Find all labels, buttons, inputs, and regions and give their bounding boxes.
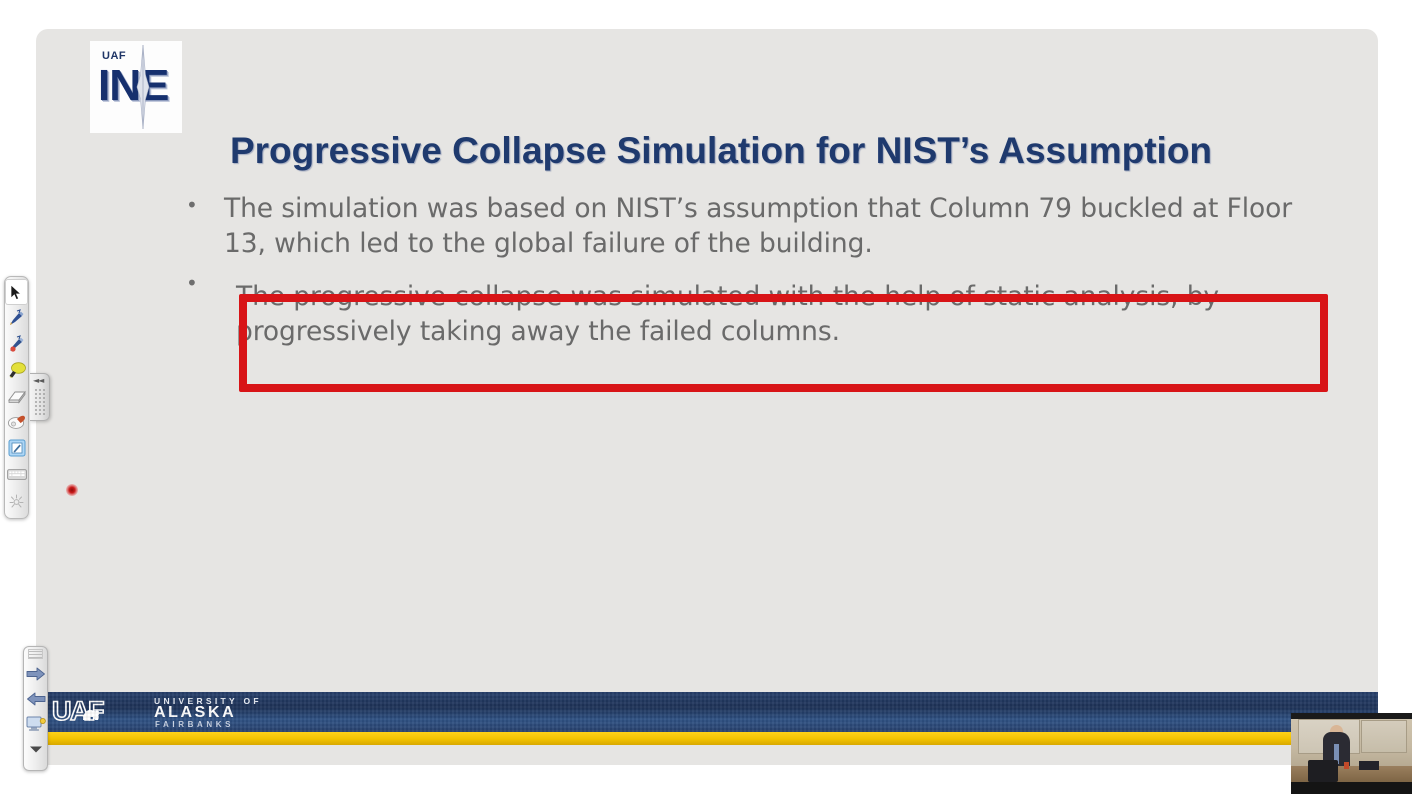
nav-more-menu[interactable] bbox=[24, 736, 47, 761]
tool-effects[interactable] bbox=[5, 487, 28, 513]
chevron-down-icon bbox=[28, 744, 44, 754]
nav-prev-slide[interactable] bbox=[24, 686, 47, 711]
laser-pointer-dot bbox=[66, 484, 78, 496]
navigation-toolbar[interactable] bbox=[23, 646, 48, 771]
slide-stage[interactable]: UAF INE Progressive Collapse Simulation … bbox=[36, 29, 1378, 765]
tool-highlighter[interactable] bbox=[5, 357, 28, 383]
tool-ink[interactable] bbox=[5, 409, 28, 435]
tool-eraser[interactable] bbox=[5, 383, 28, 409]
collapse-arrows-icon: ◄◄ bbox=[33, 376, 43, 385]
tool-text-note[interactable] bbox=[5, 435, 28, 461]
toolbar-collapse-handle[interactable]: ◄◄ bbox=[30, 373, 50, 421]
bullet-item-2: • The progressive collapse was simulated… bbox=[186, 269, 1326, 361]
bullet-text-2: The progressive collapse was simulated w… bbox=[216, 269, 1326, 361]
nav-screen-share[interactable] bbox=[24, 711, 47, 736]
presenter-webcam[interactable] bbox=[1291, 713, 1412, 794]
polar-bear-icon bbox=[80, 705, 102, 723]
bullet-item-1: • The simulation was based on NIST’s ass… bbox=[186, 191, 1326, 261]
bullet-text-1: The simulation was based on NIST’s assum… bbox=[224, 191, 1326, 261]
pen-blue-icon bbox=[7, 309, 26, 328]
handle-grip-icon bbox=[34, 388, 46, 416]
uaf-ine-logo: UAF INE bbox=[90, 41, 182, 133]
webcam-cup bbox=[1344, 762, 1349, 769]
arrow-left-icon bbox=[26, 691, 46, 707]
screen-share-icon bbox=[26, 715, 46, 732]
logo-ine-text: INE bbox=[98, 63, 168, 109]
keyboard-icon bbox=[7, 469, 27, 480]
slide-title: Progressive Collapse Simulation for NIST… bbox=[96, 129, 1346, 173]
nav-drag-grip[interactable] bbox=[24, 647, 47, 661]
webcam-projection-screen-2 bbox=[1361, 720, 1407, 753]
text-note-icon bbox=[8, 439, 26, 457]
footer-accent-stripe bbox=[36, 732, 1378, 745]
seismic-wave-icon bbox=[136, 45, 150, 129]
nav-next-slide[interactable] bbox=[24, 661, 47, 686]
tool-pen-color[interactable] bbox=[5, 331, 28, 357]
webcam-lectern bbox=[1308, 760, 1338, 782]
bullet-marker-icon: • bbox=[186, 191, 224, 205]
bullet-list: • The simulation was based on NIST’s ass… bbox=[186, 191, 1326, 369]
eraser-icon bbox=[7, 388, 27, 405]
arrow-right-icon bbox=[26, 666, 46, 682]
cursor-arrow-icon bbox=[9, 284, 24, 301]
webcam-laptop bbox=[1359, 761, 1379, 770]
tool-keyboard[interactable] bbox=[5, 461, 28, 487]
pen-color-icon bbox=[7, 335, 26, 354]
highlighter-icon bbox=[7, 361, 27, 380]
webcam-floor bbox=[1291, 782, 1412, 794]
ink-bottle-icon bbox=[7, 413, 27, 431]
footer-fairbanks-line: FAIRBANKS bbox=[155, 720, 234, 729]
drag-grip-icon bbox=[28, 649, 43, 659]
annotation-toolbar[interactable] bbox=[4, 276, 29, 519]
uaf-footer-banner: UAF UNIVERSITY OF ALASKA FAIRBANKS bbox=[36, 692, 1378, 732]
tool-pointer[interactable] bbox=[5, 279, 28, 305]
tool-pen-blue[interactable] bbox=[5, 305, 28, 331]
sparkle-icon bbox=[7, 492, 26, 509]
